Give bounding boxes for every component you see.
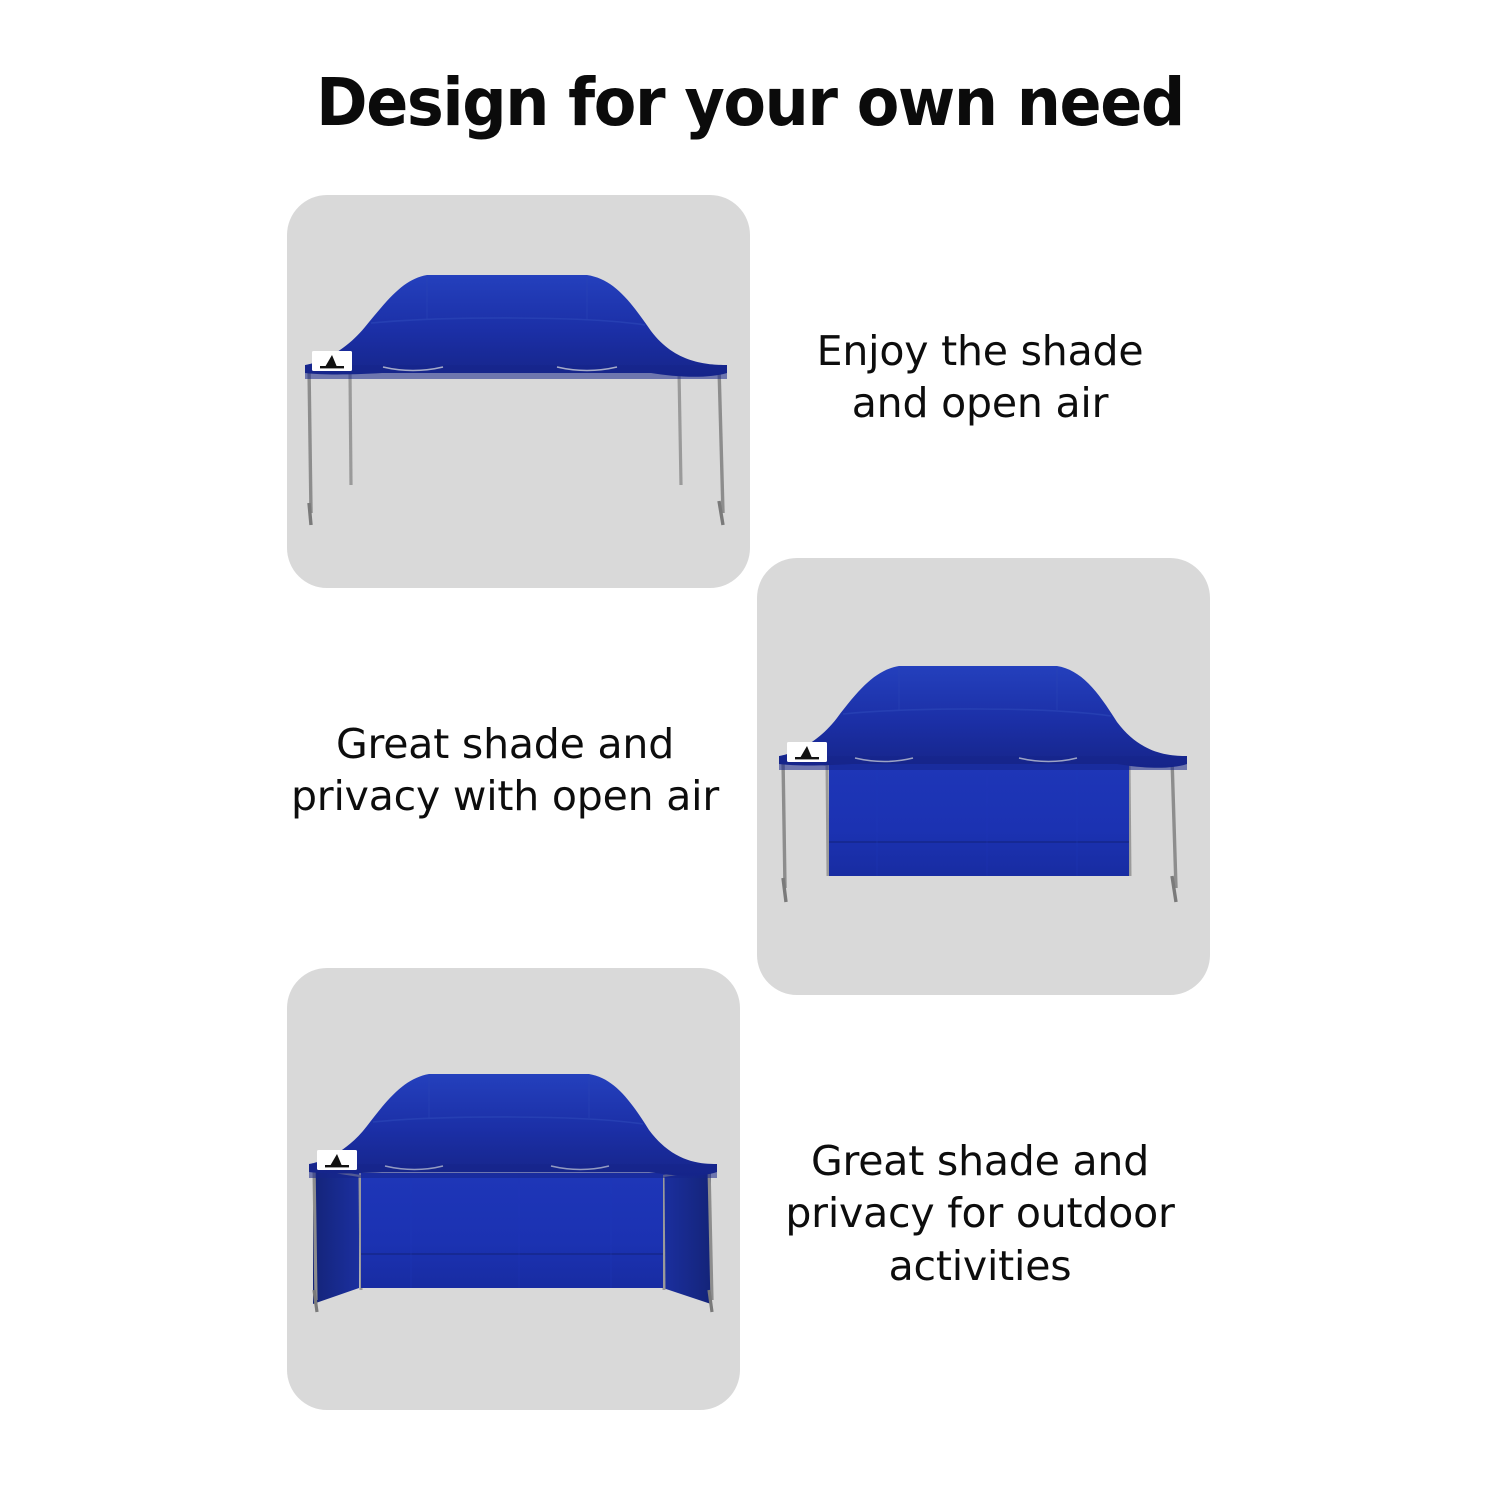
brand-logo-label (317, 1150, 357, 1170)
caption-line: privacy with open air (270, 770, 740, 822)
tent-side-wall-right (663, 1164, 711, 1304)
caption-line: activities (760, 1240, 1200, 1292)
infographic-page: Design for your own need (0, 0, 1500, 1500)
caption-line: Great shade and (760, 1135, 1200, 1187)
tent-illustration-no-walls (287, 195, 750, 588)
tent-back-wall (829, 761, 1129, 876)
brand-logo-label (312, 351, 352, 371)
page-title: Design for your own need (45, 68, 1455, 137)
product-image-card-open-canopy[interactable] (287, 195, 750, 588)
tent-canopy (779, 666, 1187, 770)
tent-legs (309, 367, 723, 525)
caption-line: Great shade and (270, 718, 740, 770)
caption-one-wall: Great shade and privacy with open air (270, 718, 740, 823)
tent-illustration-one-wall (757, 558, 1210, 995)
caption-line: and open air (760, 377, 1200, 429)
caption-three-walls: Great shade and privacy for outdoor acti… (760, 1135, 1200, 1292)
product-image-card-one-wall[interactable] (757, 558, 1210, 995)
tent-canopy (309, 1074, 717, 1178)
tent-illustration-three-walls (287, 968, 740, 1410)
product-image-card-three-walls[interactable] (287, 968, 740, 1410)
brand-logo-label (787, 742, 827, 762)
tent-canopy (305, 275, 727, 379)
tent-back-wall (361, 1173, 663, 1288)
caption-line: Enjoy the shade (760, 325, 1200, 377)
tent-side-wall-left (313, 1164, 359, 1304)
caption-open-canopy: Enjoy the shade and open air (760, 325, 1200, 430)
caption-line: privacy for outdoor (760, 1187, 1200, 1239)
